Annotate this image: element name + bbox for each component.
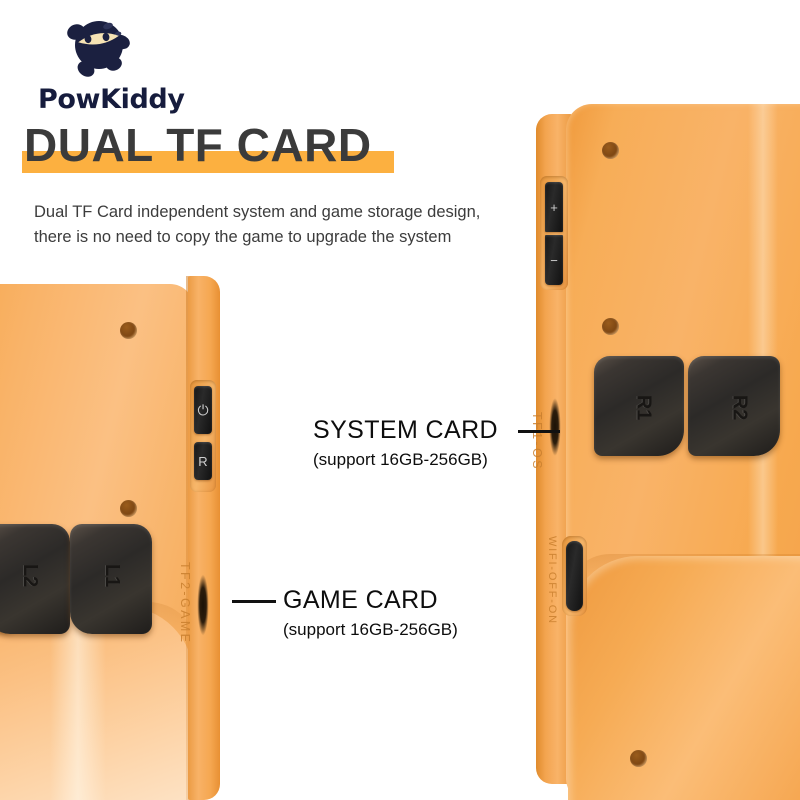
tf1-os-slot-label: TF1-OS: [530, 412, 544, 471]
callout-system-card: SYSTEM CARD (support 16GB-256GB): [313, 416, 498, 470]
leader-line-game-card: [232, 600, 276, 603]
title-text: DUAL TF CARD: [24, 118, 372, 172]
power-button[interactable]: ⏻: [194, 386, 212, 434]
subtitle-line-1: Dual TF Card independent system and game…: [34, 200, 574, 225]
shoulder-button-l1[interactable]: L1: [70, 524, 152, 634]
shoulder-label-r2: R2: [727, 395, 750, 421]
screw-hole: [120, 500, 137, 517]
device-right-grip: [568, 556, 800, 800]
reset-button[interactable]: R: [194, 442, 212, 480]
subtitle-line-2: there is no need to copy the game to upg…: [34, 225, 574, 250]
ninja-mascot-icon: [58, 12, 138, 82]
shoulder-label-r1: R1: [631, 395, 654, 421]
handheld-device-left: ⏻ R TF2-GAME L2 L1: [0, 276, 254, 800]
subtitle: Dual TF Card independent system and game…: [34, 200, 574, 250]
tf1-os-card-slot[interactable]: [548, 390, 562, 464]
device-left-highlight: [50, 606, 106, 800]
volume-down-button[interactable]: −: [545, 235, 563, 285]
callout-game-card-title: GAME CARD: [283, 586, 458, 615]
shoulder-label-l2: L2: [18, 564, 41, 587]
volume-up-button[interactable]: +: [545, 182, 563, 232]
leader-line-system-card: [518, 430, 560, 433]
brand-name: PowKiddy: [38, 84, 208, 115]
handheld-device-right: + − TF1-OS WIFI-OFF-ON R1 R2: [536, 104, 800, 800]
screw-hole: [120, 322, 137, 339]
page-title: DUAL TF CARD: [22, 118, 582, 180]
callout-game-card-subtitle: (support 16GB-256GB): [283, 620, 458, 640]
brand-logo: PowKiddy: [38, 12, 208, 112]
wifi-switch-label: WIFI-OFF-ON: [546, 536, 558, 625]
tf2-game-slot-label: TF2-GAME: [178, 562, 192, 644]
tf2-game-card-slot[interactable]: [196, 566, 210, 644]
product-infographic: PowKiddy DUAL TF CARD Dual TF Card indep…: [0, 0, 800, 800]
screw-hole: [630, 750, 647, 767]
screw-hole: [602, 318, 619, 335]
wifi-switch[interactable]: [566, 541, 583, 611]
callout-system-card-title: SYSTEM CARD: [313, 416, 498, 445]
shoulder-button-l2[interactable]: L2: [0, 524, 70, 634]
shoulder-button-r1[interactable]: R1: [594, 356, 684, 456]
shoulder-label-l1: L1: [100, 564, 123, 587]
device-left-side-edge: [188, 276, 220, 800]
screw-hole: [602, 142, 619, 159]
shoulder-button-r2[interactable]: R2: [688, 356, 780, 456]
callout-game-card: GAME CARD (support 16GB-256GB): [283, 586, 458, 640]
callout-system-card-subtitle: (support 16GB-256GB): [313, 450, 498, 470]
